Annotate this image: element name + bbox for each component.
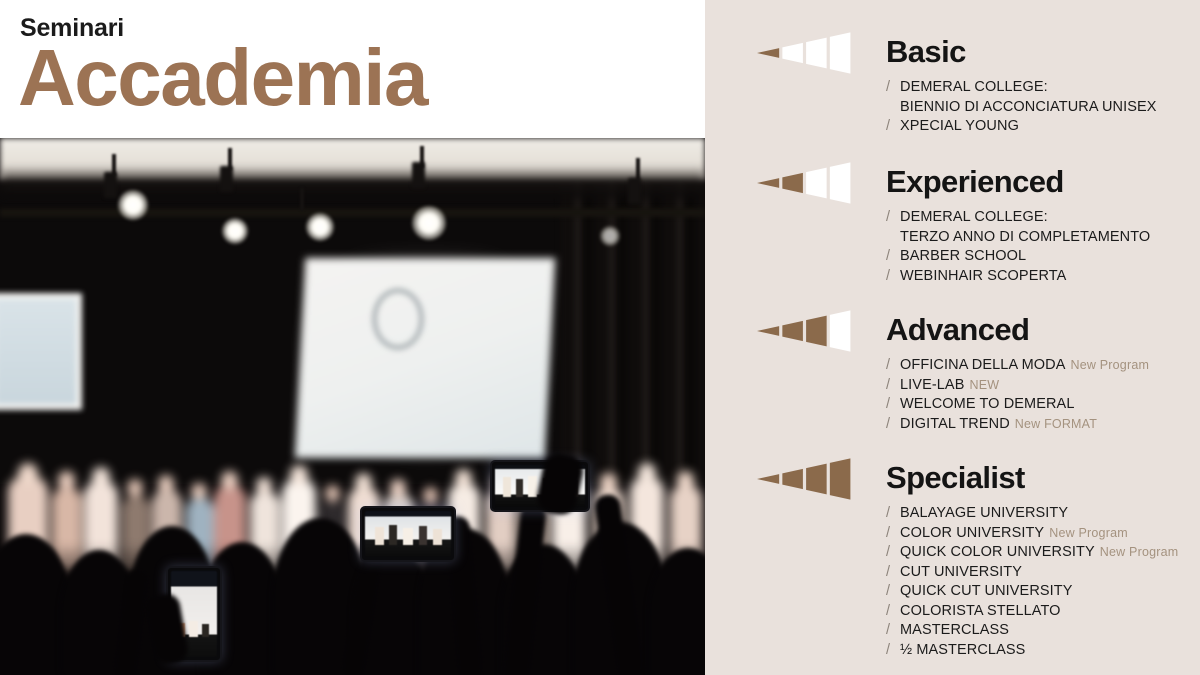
program-list-item[interactable]: /MASTERCLASS: [886, 621, 1178, 641]
program-name: OFFICINA DELLA MODA: [900, 357, 1065, 373]
program-name: WELCOME TO DEMERAL: [900, 396, 1075, 412]
section-title: Specialist: [886, 462, 1025, 493]
program-list: /BALAYAGE UNIVERSITY/COLOR UNIVERSITYNew…: [886, 504, 1178, 660]
slash-bullet: /: [886, 78, 900, 98]
program-list-item[interactable]: /CUT UNIVERSITY: [886, 563, 1178, 583]
program-name-continuation: BIENNIO DI ACCONCIATURA UNISEX: [900, 99, 1157, 115]
arrow-segment: [830, 32, 851, 73]
photo-spotlight-arm: [636, 158, 640, 180]
arrow-segment: [806, 464, 827, 495]
photo-spotlight-bulb: [222, 218, 248, 244]
level-arrow-icon: [757, 310, 852, 356]
program-list-item[interactable]: /BARBER SCHOOL: [886, 247, 1150, 267]
slash-bullet: /: [886, 621, 900, 641]
photo-spotlight-bulb: [600, 226, 620, 246]
photo-spotlight-body: [104, 172, 117, 198]
program-badge: New FORMAT: [1015, 417, 1097, 431]
program-name: WEBINHAIR SCOPERTA: [900, 268, 1066, 284]
program-name: QUICK CUT UNIVERSITY: [900, 583, 1073, 599]
program-badge: New Program: [1049, 526, 1128, 540]
slash-bullet: /: [886, 641, 900, 661]
photo-spotlight-bulb: [118, 190, 148, 220]
program-list-item[interactable]: /WEBINHAIR SCOPERTA: [886, 267, 1150, 287]
program-list-item[interactable]: /WELCOME TO DEMERAL: [886, 395, 1149, 415]
photo-side-monitor: [0, 293, 82, 410]
section-title: Advanced: [886, 314, 1029, 345]
photo-screen-logo: [372, 288, 424, 350]
program-list-item[interactable]: /DIGITAL TRENDNew FORMAT: [886, 415, 1149, 435]
program-list-item[interactable]: /QUICK CUT UNIVERSITY: [886, 582, 1178, 602]
slash-bullet: /: [886, 395, 900, 415]
arrow-segment: [782, 321, 803, 341]
photo-spotlight-bulb: [412, 206, 446, 240]
level-arrow-icon: [757, 32, 852, 78]
slash-bullet: /: [886, 524, 900, 544]
program-list: /DEMERAL COLLEGE: TERZO ANNO DI COMPLETA…: [886, 208, 1150, 286]
program-list: /OFFICINA DELLA MODANew Program/LIVE-LAB…: [886, 356, 1149, 434]
program-badge: New Program: [1070, 358, 1149, 372]
program-list-item-continuation: BIENNIO DI ACCONCIATURA UNISEX: [886, 98, 1157, 118]
slash-bullet: /: [886, 208, 900, 228]
program-list-item[interactable]: /BALAYAGE UNIVERSITY: [886, 504, 1178, 524]
page-title: Accademia: [18, 38, 427, 118]
program-list-item[interactable]: /COLOR UNIVERSITYNew Program: [886, 524, 1178, 544]
program-list-item[interactable]: /OFFICINA DELLA MODANew Program: [886, 356, 1149, 376]
continuation-indent: [886, 98, 900, 118]
program-badge: New Program: [1100, 545, 1179, 559]
program-name-continuation: TERZO ANNO DI COMPLETAMENTO: [900, 229, 1150, 245]
arrow-segment: [782, 43, 803, 63]
event-photo: [0, 138, 705, 675]
arrow-segment: [806, 38, 827, 69]
arrow-segment: [830, 310, 851, 351]
program-list-item[interactable]: /XPECIAL YOUNG: [886, 117, 1157, 137]
arrow-segment: [806, 168, 827, 199]
slide-root: Seminari Accademia: [0, 0, 1200, 675]
arrow-segment: [806, 316, 827, 347]
slash-bullet: /: [886, 356, 900, 376]
arrow-segment: [782, 173, 803, 193]
slash-bullet: /: [886, 543, 900, 563]
slash-bullet: /: [886, 504, 900, 524]
program-list-item-continuation: TERZO ANNO DI COMPLETAMENTO: [886, 228, 1150, 248]
program-list-item[interactable]: /QUICK COLOR UNIVERSITYNew Program: [886, 543, 1178, 563]
arrow-segment: [830, 458, 851, 499]
slash-bullet: /: [886, 247, 900, 267]
photo-audience: [0, 498, 705, 675]
program-name: ½ MASTERCLASS: [900, 642, 1025, 658]
program-name: DEMERAL COLLEGE:: [900, 209, 1048, 225]
program-name: QUICK COLOR UNIVERSITY: [900, 544, 1095, 560]
program-name: DEMERAL COLLEGE:: [900, 79, 1048, 95]
program-name: CUT UNIVERSITY: [900, 564, 1022, 580]
photo-spotlight-body: [220, 166, 233, 192]
slash-bullet: /: [886, 267, 900, 287]
slash-bullet: /: [886, 582, 900, 602]
arrow-segment: [757, 474, 779, 484]
program-badge: NEW: [969, 378, 999, 392]
program-name: DIGITAL TREND: [900, 416, 1010, 432]
slash-bullet: /: [886, 376, 900, 396]
program-name: COLORISTA STELLATO: [900, 603, 1061, 619]
photo-spotlight-arm: [300, 188, 304, 210]
program-list-item[interactable]: /DEMERAL COLLEGE:: [886, 208, 1150, 228]
program-name: XPECIAL YOUNG: [900, 118, 1019, 134]
program-list-item[interactable]: /DEMERAL COLLEGE:: [886, 78, 1157, 98]
program-list: /DEMERAL COLLEGE: BIENNIO DI ACCONCIATUR…: [886, 78, 1157, 137]
photo-spotlight-body: [628, 178, 641, 204]
programs-panel: Basic/DEMERAL COLLEGE: BIENNIO DI ACCONC…: [705, 0, 1200, 675]
program-list-item[interactable]: /½ MASTERCLASS: [886, 641, 1178, 661]
slash-bullet: /: [886, 117, 900, 137]
program-list-item[interactable]: /COLORISTA STELLATO: [886, 602, 1178, 622]
slash-bullet: /: [886, 602, 900, 622]
level-arrow-icon: [757, 458, 852, 504]
photo-spotlight-body: [412, 162, 425, 188]
photo-phone-screen: [360, 506, 456, 562]
program-name: BALAYAGE UNIVERSITY: [900, 505, 1068, 521]
arrow-segment: [757, 48, 779, 58]
program-name: COLOR UNIVERSITY: [900, 525, 1044, 541]
photo-lighting-truss: [0, 208, 705, 217]
program-name: MASTERCLASS: [900, 622, 1009, 638]
arrow-segment: [782, 469, 803, 489]
arrow-segment: [757, 326, 779, 336]
program-list-item[interactable]: /LIVE-LABNEW: [886, 376, 1149, 396]
arrow-segment: [757, 178, 779, 188]
program-name: BARBER SCHOOL: [900, 248, 1026, 264]
section-title: Basic: [886, 36, 966, 67]
arrow-segment: [830, 162, 851, 203]
level-arrow-icon: [757, 162, 852, 208]
slash-bullet: /: [886, 563, 900, 583]
section-title: Experienced: [886, 166, 1064, 197]
program-name: LIVE-LAB: [900, 377, 964, 393]
left-column: Seminari Accademia: [0, 0, 705, 675]
photo-spotlight-bulb: [306, 213, 334, 241]
slash-bullet: /: [886, 415, 900, 435]
continuation-indent: [886, 228, 900, 248]
title-block: Seminari Accademia: [0, 0, 705, 138]
